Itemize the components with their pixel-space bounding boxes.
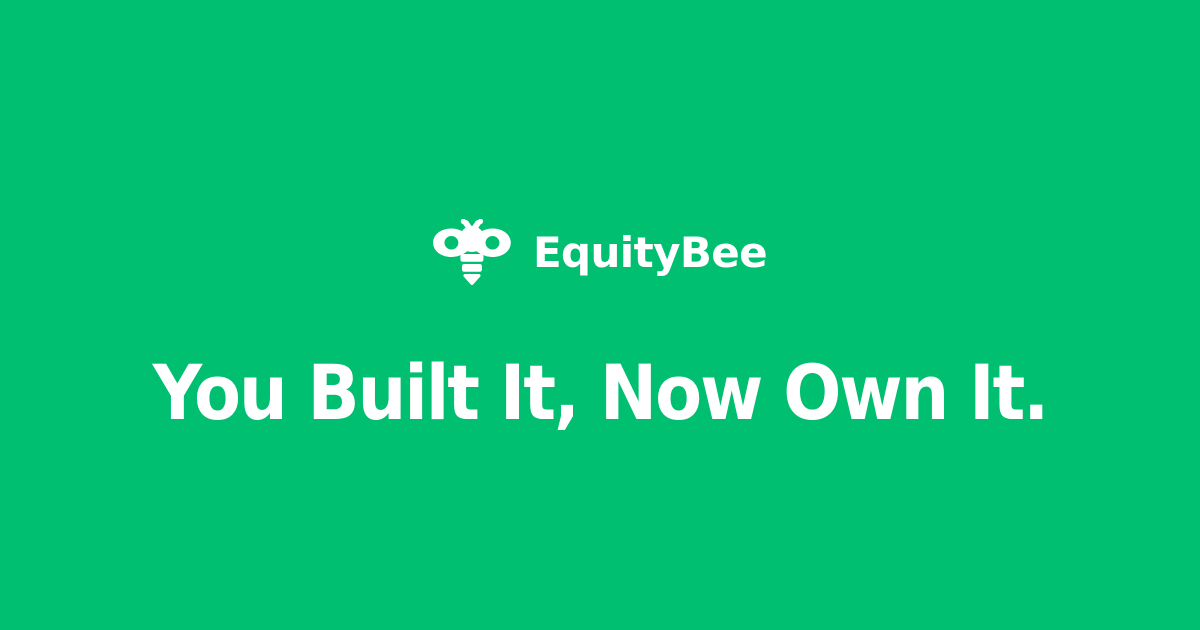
bee-icon [433, 219, 511, 285]
social-share-card: EquityBee You Built It, Now Own It. [0, 0, 1200, 630]
headline: You Built It, Now Own It. [60, 355, 1140, 431]
brand-lockup: EquityBee [433, 214, 767, 290]
brand-wordmark: EquityBee [533, 232, 767, 274]
